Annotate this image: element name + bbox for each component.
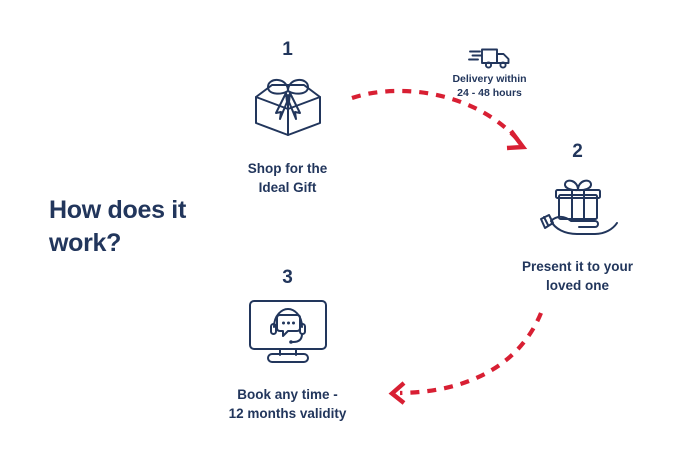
delivery-truck-icon	[427, 46, 552, 70]
page-title: How does it work?	[49, 194, 239, 260]
step-1: 1 Shop for the Ideal Gift	[205, 40, 370, 197]
delivery-note-text: Delivery within 24 - 48 hours	[427, 73, 552, 101]
step-3: 3	[205, 268, 370, 423]
delivery-note: Delivery within 24 - 48 hours	[427, 46, 552, 101]
step-1-caption: Shop for the Ideal Gift	[205, 159, 370, 197]
gift-box-icon	[205, 69, 370, 141]
hand-holding-gift-icon	[495, 171, 660, 243]
step-3-caption: Book any time - 12 months validity	[205, 385, 370, 423]
arrow-step2-to-step3	[392, 313, 541, 403]
step-1-number: 1	[205, 40, 370, 59]
step-3-number: 3	[205, 268, 370, 287]
step-2-caption: Present it to your loved one	[495, 257, 660, 295]
monitor-support-chat-icon	[205, 295, 370, 367]
step-2: 2 Present it to your loved one	[495, 142, 660, 295]
step-2-number: 2	[495, 142, 660, 161]
how-it-works-infographic: How does it work? 1 Shop for the Ideal G…	[0, 0, 700, 457]
